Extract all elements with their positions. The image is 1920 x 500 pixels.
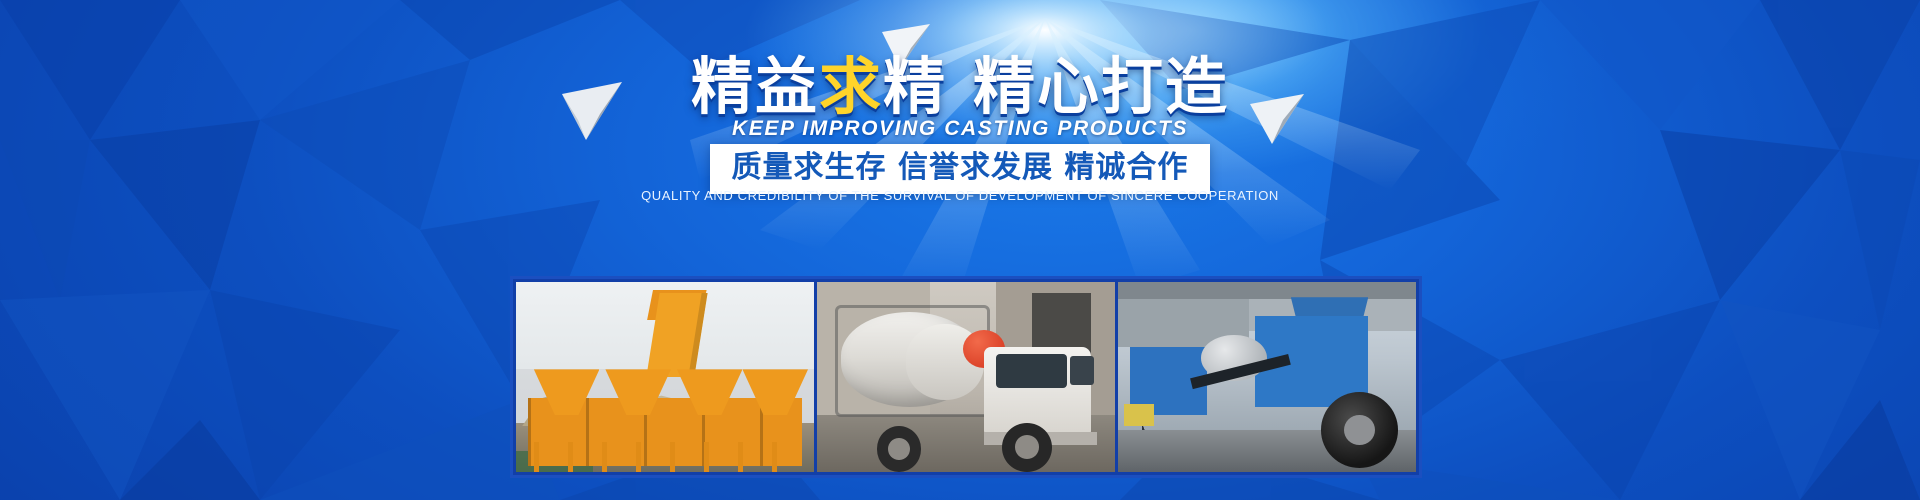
photo-concrete-batching-plant[interactable]: [516, 282, 814, 472]
photo-blue-mixing-equipment[interactable]: [1118, 282, 1416, 472]
headline-segment-3: 精: [883, 50, 947, 123]
slogan-box-wrapper: 质量求生存 信誉求发展 精诚合作: [0, 144, 1920, 194]
slogan-text: 质量求生存 信誉求发展 精诚合作: [732, 151, 1189, 185]
headline-segment-1: 精益: [691, 50, 819, 123]
subtitle-english: KEEP IMPROVING CASTING PRODUCTS: [0, 117, 1920, 141]
headline: 精益求精精心打造: [0, 52, 1920, 122]
headline-segment-2: 求: [819, 50, 883, 123]
footer-english: QUALITY AND CREDIBILITY OF THE SURVIVAL …: [0, 188, 1920, 203]
photo-concrete-mixer-truck[interactable]: [817, 282, 1115, 472]
headline-segment-4: 精心打造: [973, 50, 1229, 123]
banner-content: 精益求精精心打造 KEEP IMPROVING CASTING PRODUCTS…: [0, 0, 1920, 500]
photo-strip: [510, 276, 1422, 478]
hero-banner: 精益求精精心打造 KEEP IMPROVING CASTING PRODUCTS…: [0, 0, 1920, 500]
slogan-box: 质量求生存 信誉求发展 精诚合作: [710, 144, 1211, 194]
